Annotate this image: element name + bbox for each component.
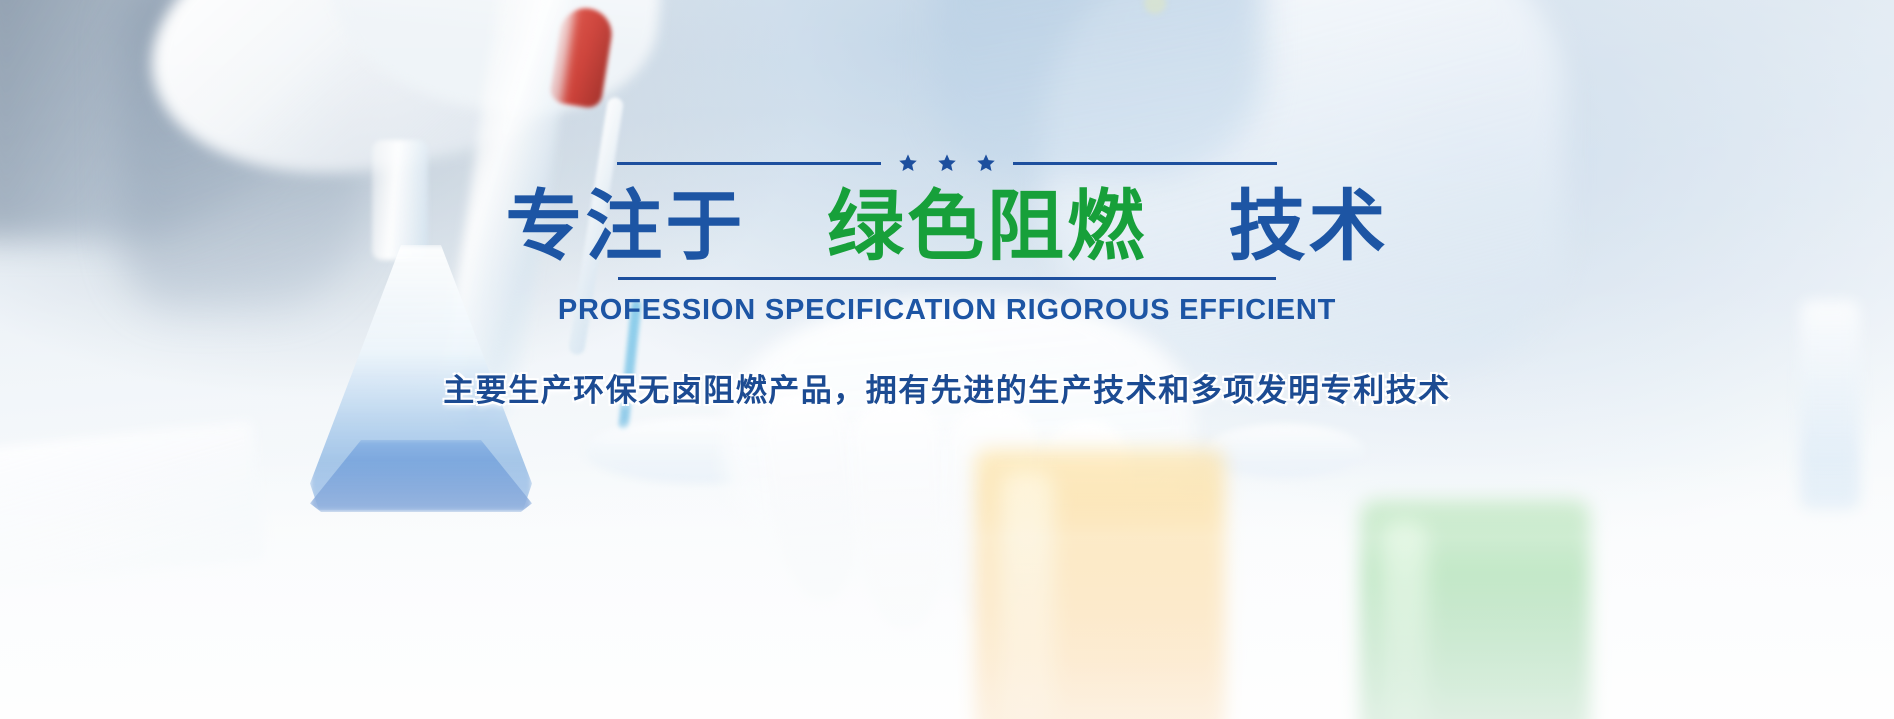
headline: 专注于 绿色阻燃 技术 — [505, 187, 1388, 269]
star-icon — [937, 153, 957, 173]
banner-content: 专注于 绿色阻燃 技术 PROFESSION SPECIFICATION RIG… — [0, 150, 1894, 410]
star-icon — [898, 153, 918, 173]
star-icon — [976, 153, 996, 173]
star-group — [881, 153, 1013, 173]
bottom-divider — [618, 277, 1276, 280]
subtitle-english: PROFESSION SPECIFICATION RIGOROUS EFFICI… — [558, 294, 1336, 327]
divider-line-right — [1013, 162, 1277, 165]
headline-part-1: 专注于 — [505, 183, 745, 272]
headline-part-3: 技术 — [1229, 183, 1389, 272]
hero-banner: 专注于 绿色阻燃 技术 PROFESSION SPECIFICATION RIG… — [0, 0, 1894, 719]
top-divider — [617, 150, 1277, 176]
description-chinese: 主要生产环保无卤阻燃产品，拥有先进的生产技术和多项发明专利技术 — [443, 365, 1451, 410]
divider-line-left — [617, 162, 881, 165]
headline-part-2: 绿色阻燃 — [827, 183, 1147, 272]
